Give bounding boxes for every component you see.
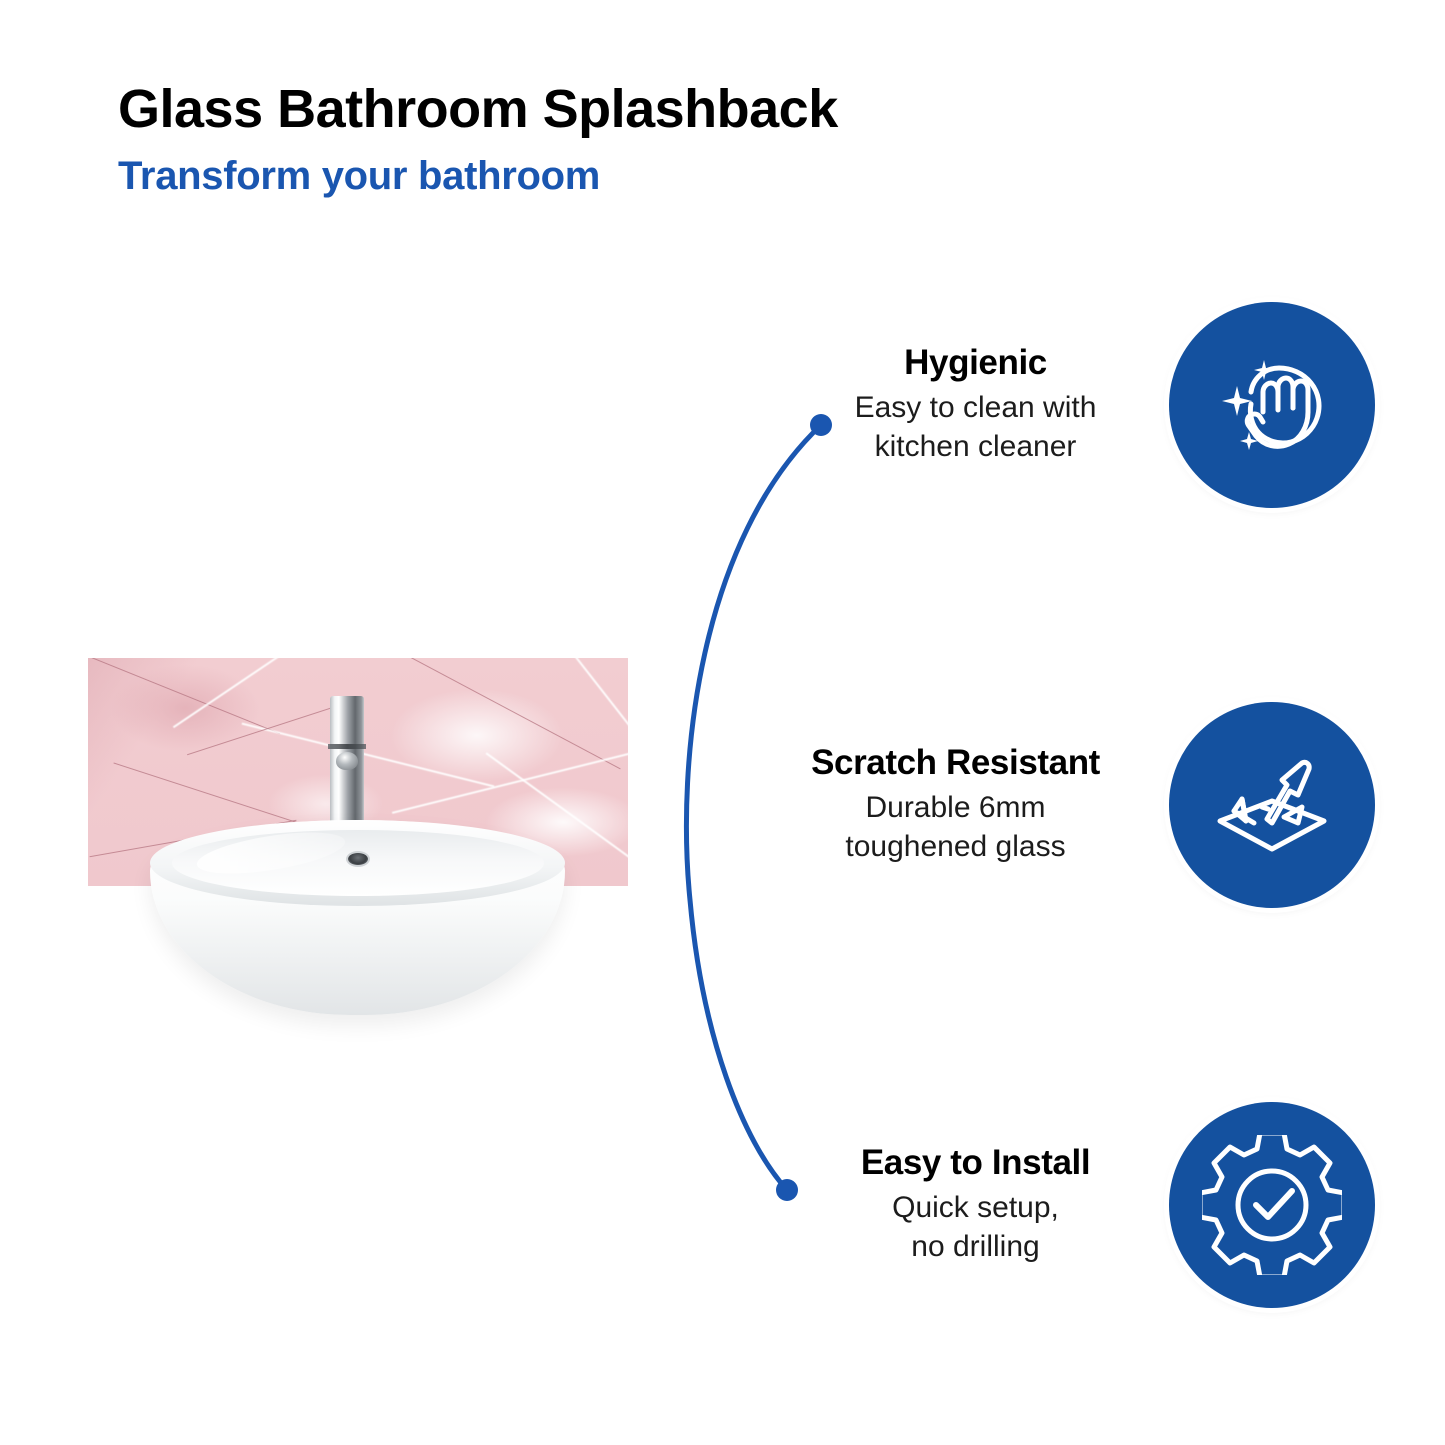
marble-vein: [88, 658, 280, 734]
feature-text: Scratch Resistant Durable 6mm toughened …: [760, 744, 1169, 866]
feature-description-line: Quick setup,: [800, 1189, 1151, 1227]
connector-dot-bottom: [776, 1179, 798, 1201]
basin-overflow-hole: [346, 851, 370, 867]
feature-description-line: no drilling: [800, 1228, 1151, 1266]
feature-description-line: toughened glass: [760, 828, 1151, 866]
feature-text: Hygienic Easy to clean with kitchen clea…: [800, 344, 1169, 466]
feature-row: Hygienic Easy to clean with kitchen clea…: [800, 300, 1375, 510]
feature-title: Hygienic: [800, 344, 1151, 383]
header: Glass Bathroom Splashback Transform your…: [118, 78, 1118, 200]
feature-description-line: kitchen cleaner: [800, 428, 1151, 466]
feature-row: Easy to Install Quick setup, no drilling: [800, 1100, 1375, 1310]
hand-wiping-sparkle-icon: [1169, 302, 1375, 508]
feature-description: Quick setup, no drilling: [800, 1189, 1151, 1266]
tap-band: [328, 744, 366, 749]
marble-vein: [546, 658, 628, 739]
page-title: Glass Bathroom Splashback: [118, 78, 1118, 140]
knife-scratch-surface-icon: [1169, 702, 1375, 908]
marble-vein: [242, 723, 495, 788]
feature-title: Easy to Install: [800, 1144, 1151, 1183]
feature-description: Durable 6mm toughened glass: [760, 789, 1151, 866]
page-subtitle: Transform your bathroom: [118, 152, 1118, 200]
feature-row: Scratch Resistant Durable 6mm toughened …: [760, 700, 1375, 910]
tap-spout: [336, 752, 358, 770]
product-image: [88, 648, 633, 1028]
feature-description-line: Easy to clean with: [800, 389, 1151, 427]
gear-checkmark-icon: [1169, 1102, 1375, 1308]
feature-title: Scratch Resistant: [760, 744, 1151, 783]
feature-text: Easy to Install Quick setup, no drilling: [800, 1144, 1169, 1266]
feature-description: Easy to clean with kitchen cleaner: [800, 389, 1151, 466]
feature-description-line: Durable 6mm: [760, 789, 1151, 827]
marble-vein: [187, 702, 349, 755]
